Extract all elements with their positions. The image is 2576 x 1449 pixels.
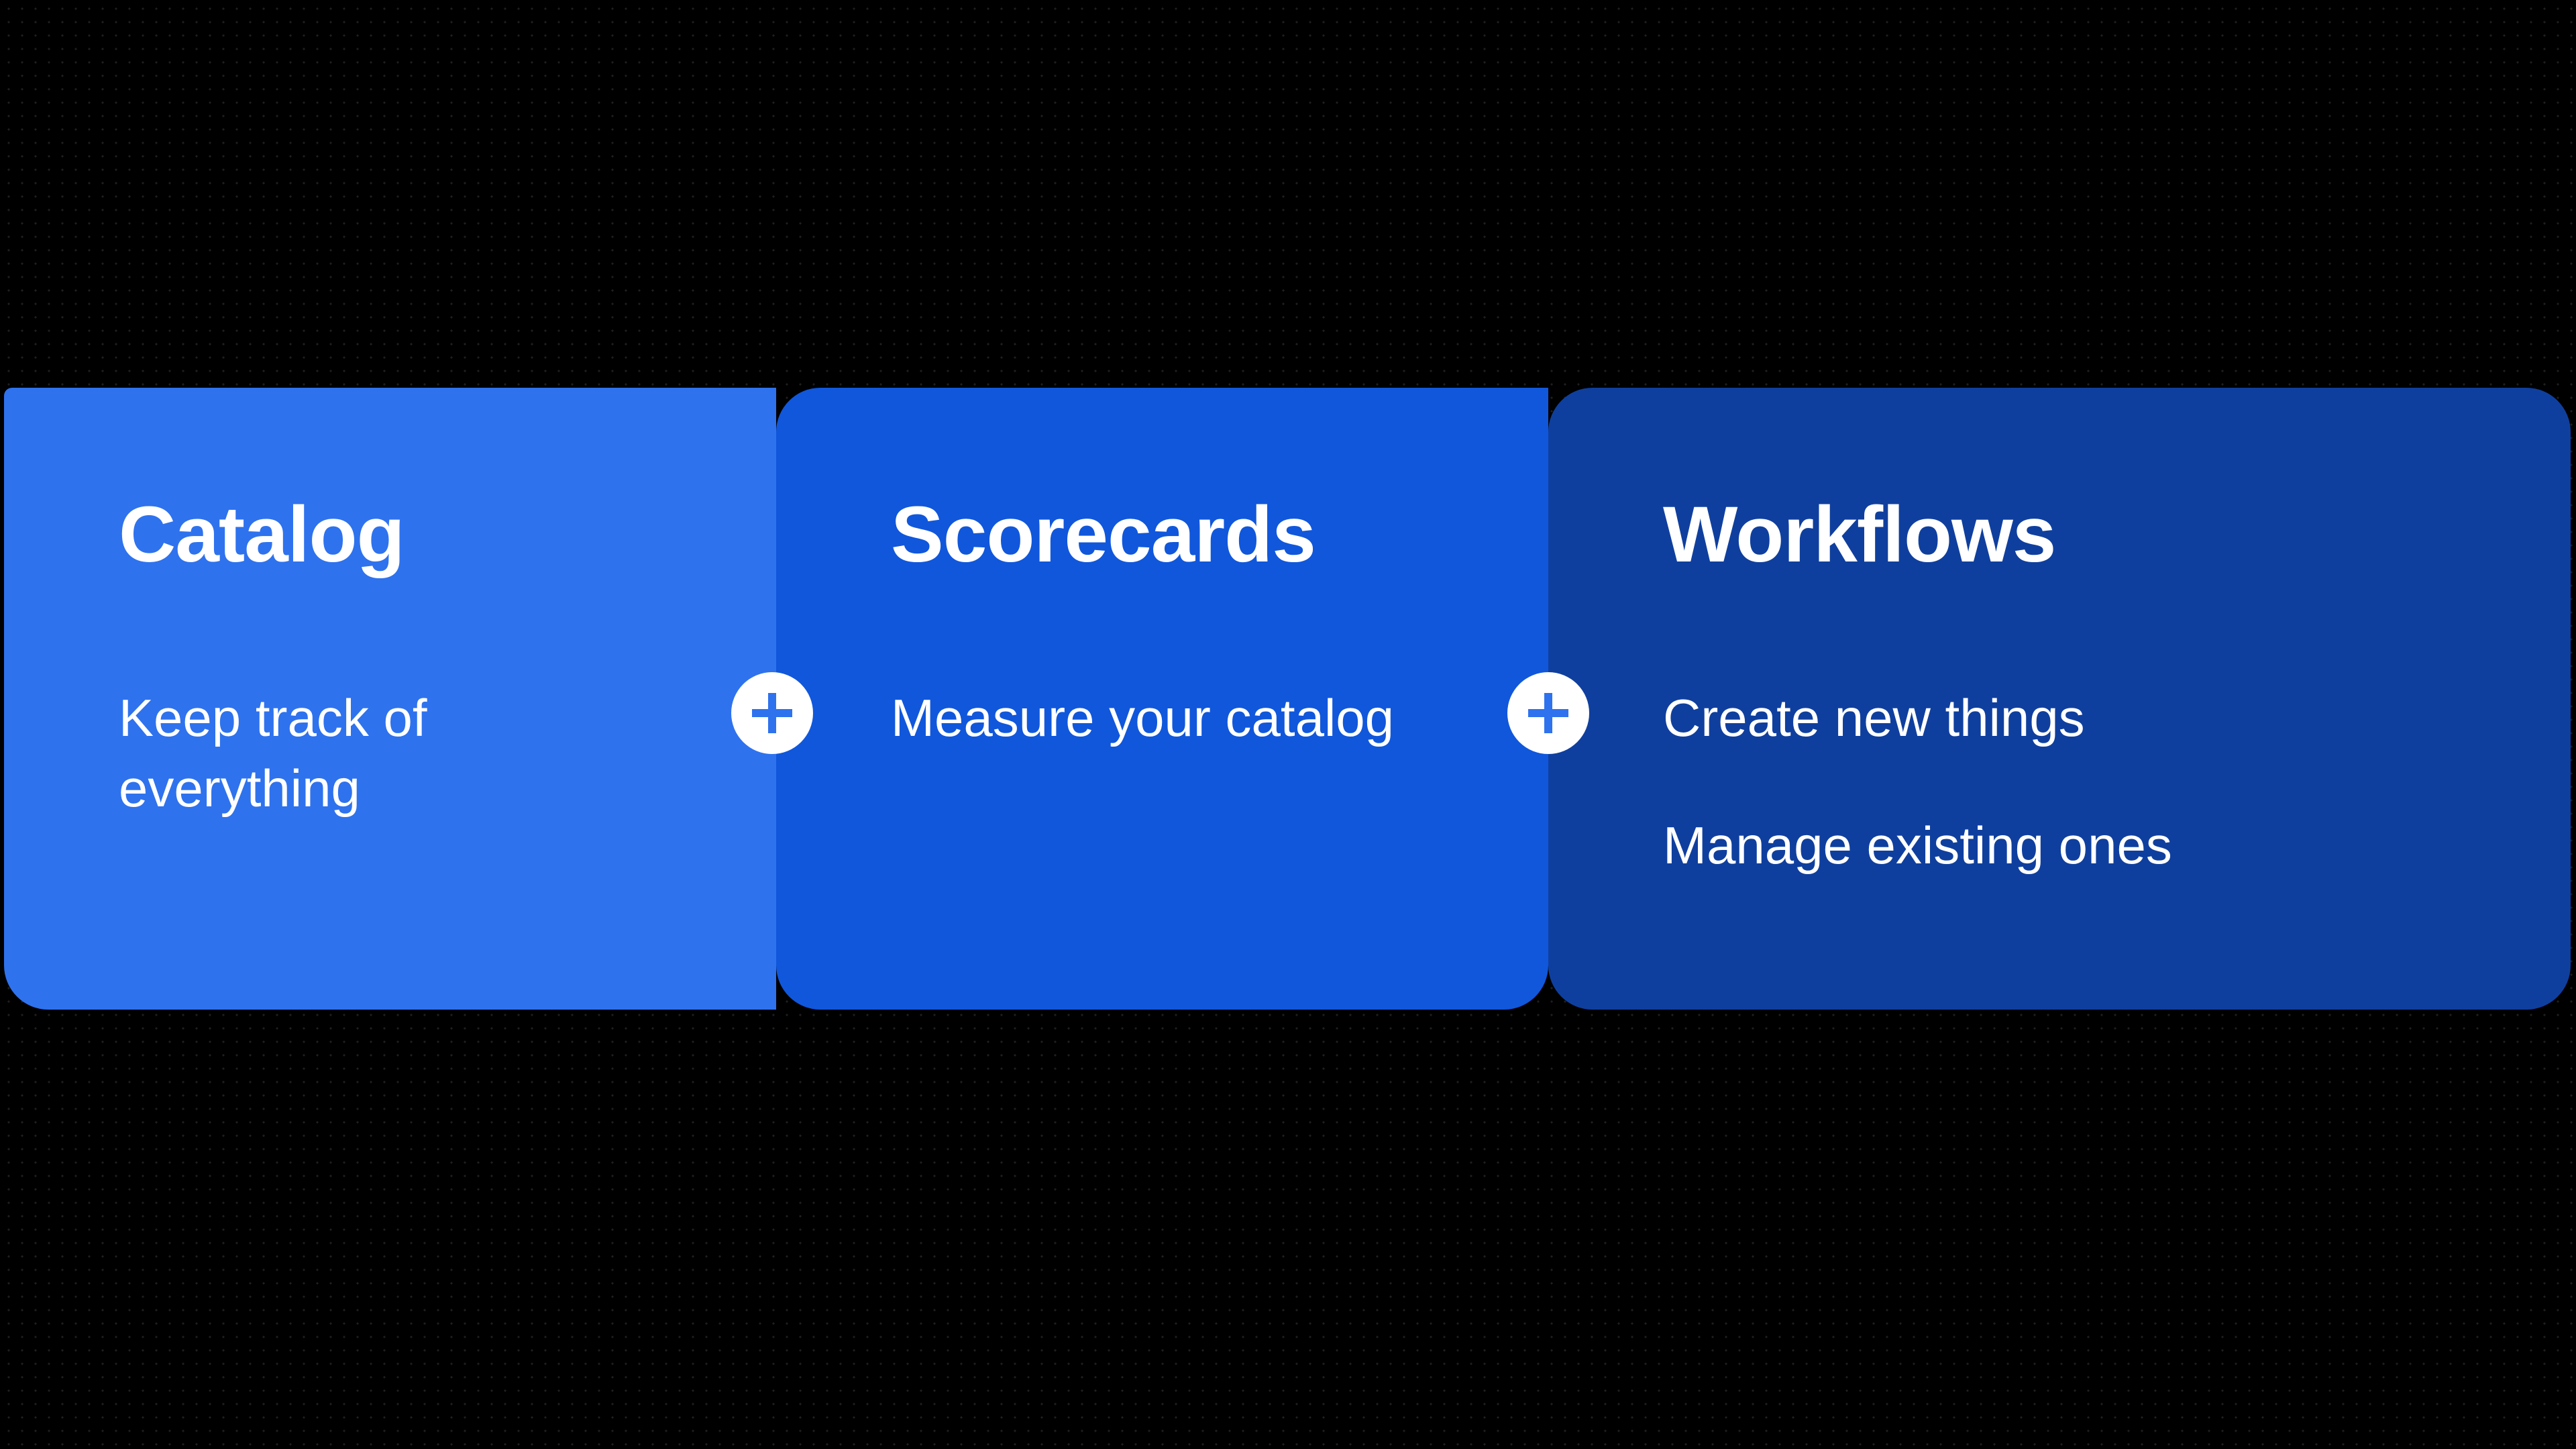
card-workflows-title: Workflows: [1663, 495, 2055, 574]
pillar-cards-row: Catalog Keep track of everything Scoreca…: [4, 388, 2571, 1010]
card-catalog-line-1: Keep track of: [119, 683, 669, 753]
card-workflows[interactable]: Workflows Create new things Manage exist…: [1548, 388, 2571, 1010]
diagram-canvas: Catalog Keep track of everything Scoreca…: [0, 0, 2576, 1449]
card-catalog-title: Catalog: [119, 495, 405, 574]
card-catalog-line-2: everything: [119, 753, 669, 824]
card-workflows-line-2: Manage existing ones: [1663, 810, 2434, 881]
card-workflows-description: Create new things Manage existing ones: [1663, 683, 2434, 881]
plus-connector-1: [731, 672, 813, 754]
card-scorecards[interactable]: Scorecards Measure your catalog: [776, 388, 1548, 1010]
card-catalog-description: Keep track of everything: [119, 683, 669, 824]
plus-icon: [1523, 688, 1573, 738]
card-scorecards-title: Scorecards: [891, 495, 1316, 574]
card-catalog[interactable]: Catalog Keep track of everything: [4, 388, 776, 1010]
card-workflows-line-1: Create new things: [1663, 683, 2434, 753]
plus-icon: [747, 688, 797, 738]
plus-connector-2: [1507, 672, 1589, 754]
